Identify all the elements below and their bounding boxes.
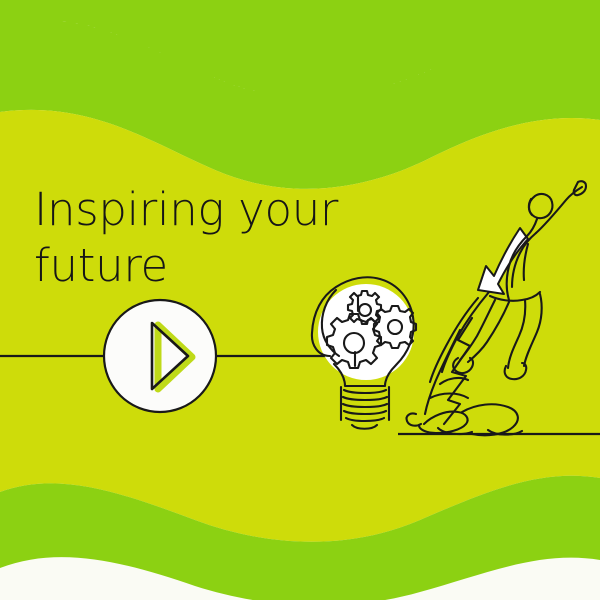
page-title: Inspiring your future: [34, 182, 374, 295]
play-button[interactable]: [0, 0, 600, 600]
promotional-banner: Inspiring your future: [0, 0, 600, 600]
